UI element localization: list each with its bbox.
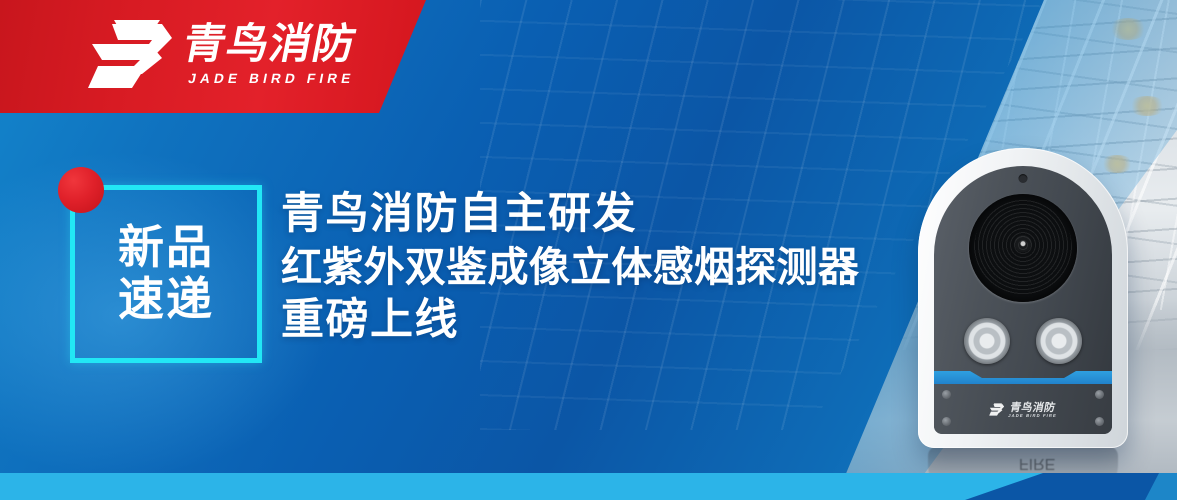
headline-line-2: 红紫外双鉴成像立体感烟探测器 bbox=[281, 247, 859, 288]
product-logo-cn: 青鸟消防 bbox=[1009, 402, 1056, 413]
jade-bird-arrow-emblem bbox=[88, 18, 172, 90]
product-logo-text: 青鸟消防 JADE BIRD FIRE bbox=[1008, 402, 1057, 418]
uv-sensor-lens-icon bbox=[964, 318, 1010, 364]
new-product-badge: 新品 速递 bbox=[70, 185, 262, 363]
product-image: 青鸟消防 JADE BIRD FIRE bbox=[918, 148, 1128, 448]
screw-icon bbox=[942, 417, 951, 426]
ir-sensor-lens-icon bbox=[1036, 318, 1082, 364]
brand-wordmark-en: JADE BIRD FIRE bbox=[186, 72, 358, 86]
product-logo-en: JADE BIRD FIRE bbox=[1008, 414, 1057, 418]
jade-bird-arrow-emblem bbox=[989, 403, 1004, 416]
camera-lens-icon bbox=[969, 194, 1077, 302]
headline-line-1: 青鸟消防自主研发 bbox=[281, 193, 859, 236]
badge-line-2: 速递 bbox=[118, 275, 214, 325]
headline-line-3: 重磅上线 bbox=[281, 299, 859, 342]
screw-icon bbox=[942, 390, 951, 399]
product-logo: 青鸟消防 JADE BIRD FIRE bbox=[989, 402, 1057, 418]
badge-line-1: 新品 bbox=[118, 223, 214, 273]
promo-banner: 青鸟消防 JADE BIRD FIRE 新品 速递 青鸟消防自主研发 红紫外双鉴… bbox=[0, 0, 1177, 500]
bottom-bar-wedge bbox=[847, 473, 1177, 500]
brand-wordmark-cn: 青鸟消防 bbox=[180, 23, 360, 65]
screw-icon bbox=[1095, 417, 1104, 426]
lens-rings bbox=[974, 199, 1072, 297]
headline: 青鸟消防自主研发 红紫外双鉴成像立体感烟探测器 重磅上线 bbox=[281, 193, 859, 342]
device-face: 青鸟消防 JADE BIRD FIRE bbox=[934, 166, 1112, 434]
status-indicator-dot-icon bbox=[1019, 174, 1028, 183]
brand-logo[interactable]: 青鸟消防 JADE BIRD FIRE bbox=[88, 18, 356, 90]
screw-icon bbox=[1095, 390, 1104, 399]
brand-wordmark: 青鸟消防 JADE BIRD FIRE bbox=[184, 23, 356, 86]
bottom-accent-bar bbox=[0, 473, 1177, 500]
